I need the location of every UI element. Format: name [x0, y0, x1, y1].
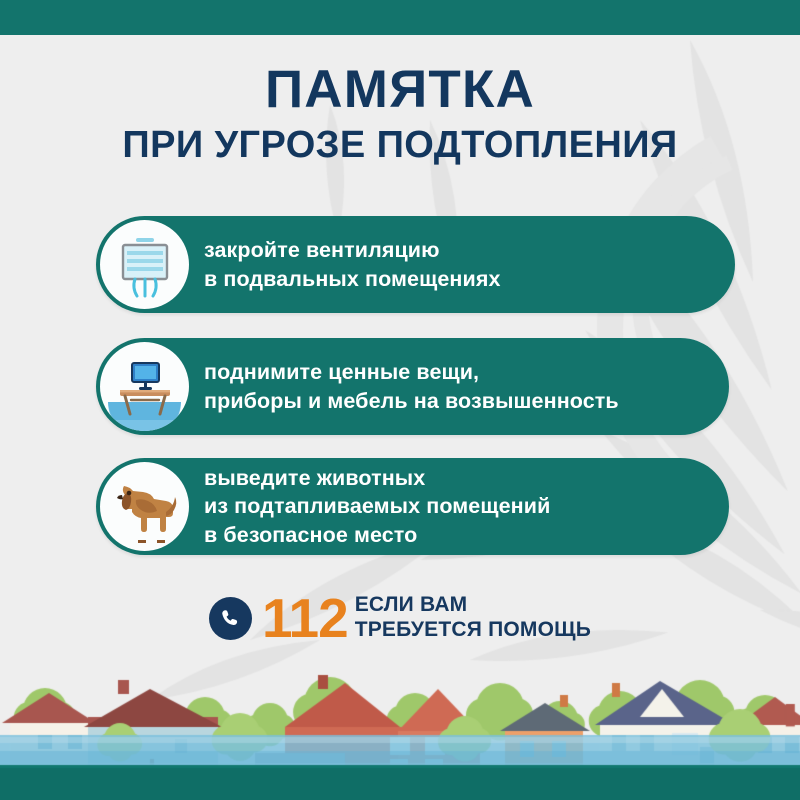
- title-subtitle: ПРИ УГРОЗЕ ПОДТОПЛЕНИЯ: [0, 125, 800, 167]
- tip-line: поднимите ценные вещи,: [204, 358, 619, 387]
- dog-icon: [100, 462, 189, 551]
- tip-text-2: поднимите ценные вещи, приборы и мебель …: [204, 358, 619, 415]
- emergency-line-1: ЕСЛИ ВАМ: [355, 593, 591, 618]
- emergency-number: 112: [262, 592, 348, 644]
- tip-line: выведите животных: [204, 464, 550, 493]
- tip-line: в подвальных помещениях: [204, 265, 501, 294]
- ventilation-grille-icon: [100, 220, 189, 309]
- tip-line: в безопасное место: [204, 521, 550, 550]
- flooded-town-illustration: [0, 655, 800, 800]
- page-title: ПАМЯТКА ПРИ УГРОЗЕ ПОДТОПЛЕНИЯ: [0, 62, 800, 167]
- tip-card-3: выведите животных из подтапливаемых поме…: [96, 458, 729, 555]
- tip-card-1: закройте вентиляцию в подвальных помещен…: [96, 216, 735, 313]
- tip-text-3: выведите животных из подтапливаемых поме…: [204, 464, 550, 550]
- tip-text-1: закройте вентиляцию в подвальных помещен…: [204, 236, 501, 293]
- emergency-line-2: ТРЕБУЕТСЯ ПОМОЩЬ: [355, 618, 591, 643]
- top-accent-bar: [0, 0, 800, 35]
- tip-line: из подтапливаемых помещений: [204, 492, 550, 521]
- phone-icon: [209, 597, 252, 640]
- tip-line: приборы и мебель на возвышенность: [204, 387, 619, 416]
- tip-line: закройте вентиляцию: [204, 236, 501, 265]
- tip-card-2: поднимите ценные вещи, приборы и мебель …: [96, 338, 729, 435]
- title-main: ПАМЯТКА: [0, 62, 800, 119]
- desk-monitor-flood-icon: [100, 342, 189, 431]
- emergency-callout: 112 ЕСЛИ ВАМ ТРЕБУЕТСЯ ПОМОЩЬ: [0, 592, 800, 644]
- emergency-text: ЕСЛИ ВАМ ТРЕБУЕТСЯ ПОМОЩЬ: [355, 593, 591, 643]
